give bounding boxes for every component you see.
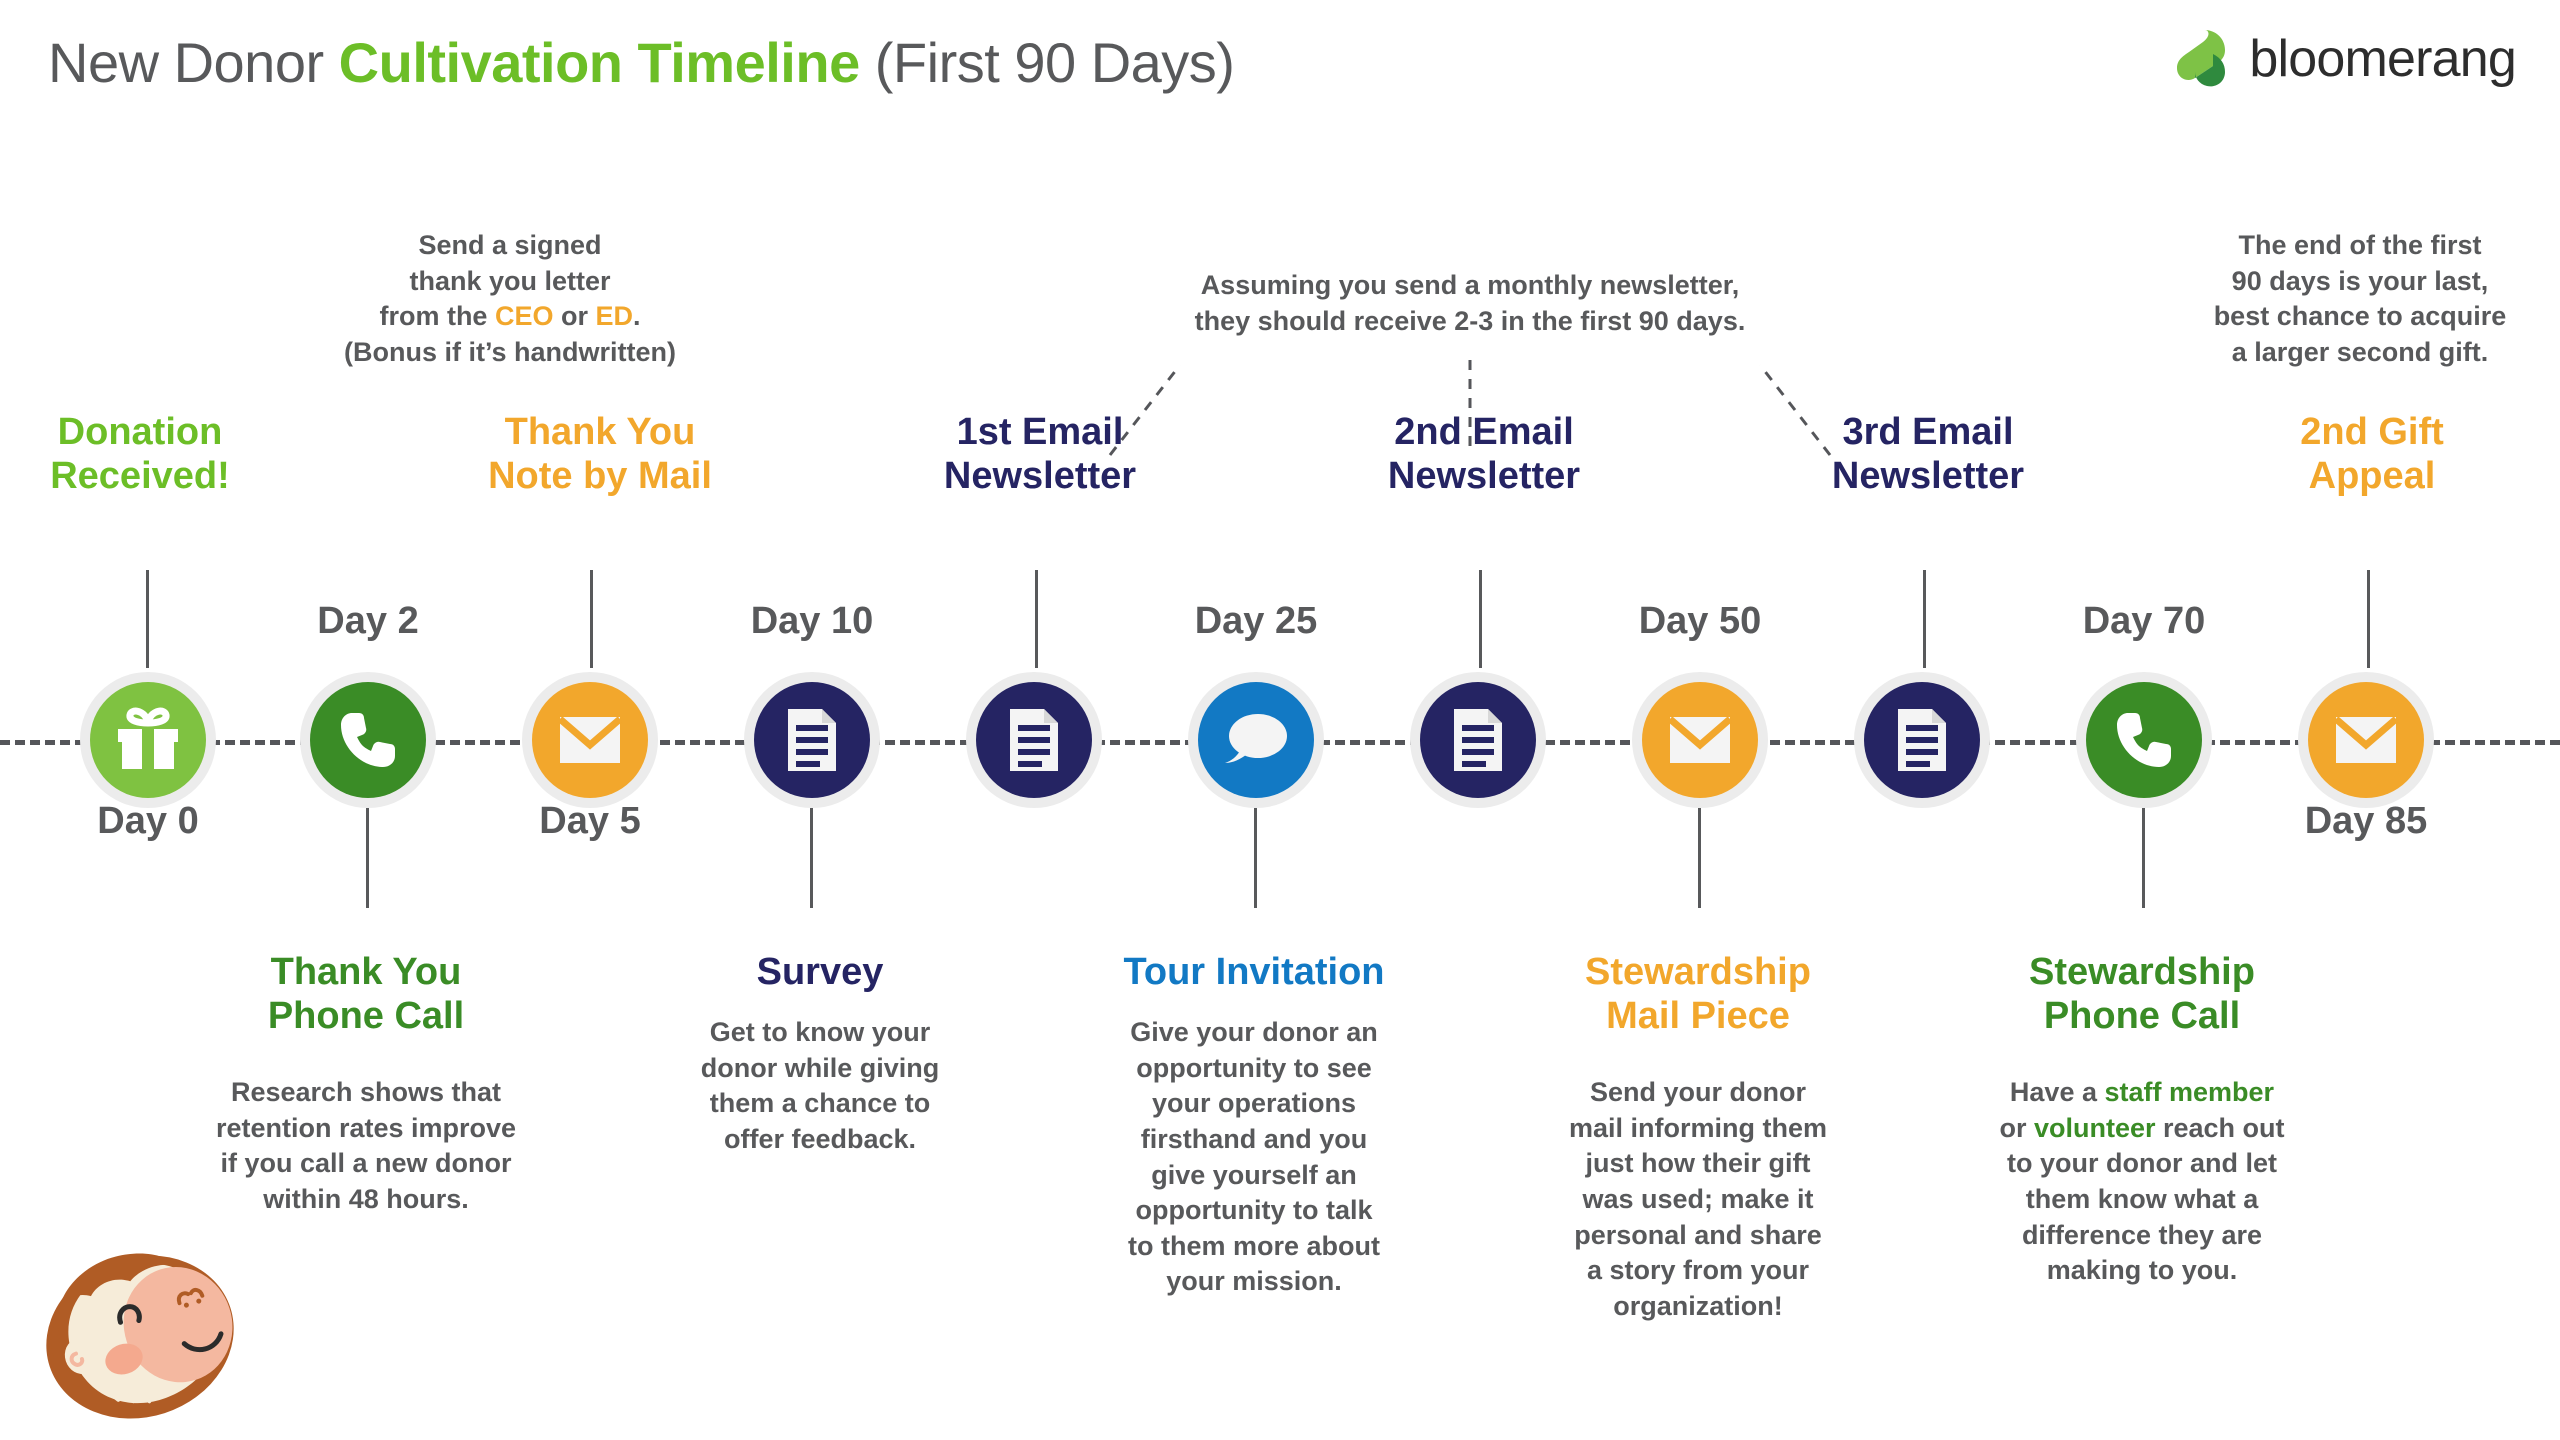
node-disc (2086, 682, 2202, 798)
heading-stewardship-phone-call: Stewardship Phone Call (1982, 950, 2302, 1038)
heading-donation-received: Donation Received! (0, 410, 300, 498)
node-thank-you-note-by-mail[interactable] (522, 672, 658, 808)
node-disc (2308, 682, 2424, 798)
stem-second-email-newsletter (1479, 570, 1482, 668)
bloomerang-logo-text: bloomerang (2249, 33, 2516, 85)
heading-thank-you-note-by-mail: Thank You Note by Mail (440, 410, 760, 498)
envelope-icon (1668, 715, 1732, 765)
annotation-line: thank you letter (300, 264, 720, 300)
document-icon (1896, 707, 1948, 773)
annotation-line: they should receive 2-3 in the first 90 … (1090, 304, 1850, 340)
node-disc (1198, 682, 1314, 798)
infographic-canvas: New Donor Cultivation Timeline (First 90… (0, 0, 2560, 1440)
node-second-gift-appeal[interactable] (2298, 672, 2434, 808)
day-label-survey: Day 10 (692, 600, 932, 643)
stem-third-email-newsletter (1923, 570, 1926, 668)
annotation-line: a larger second gift. (2180, 335, 2540, 371)
description-stewardship-mail-piece: Send your donor mail informing them just… (1528, 1075, 1868, 1324)
node-disc (310, 682, 426, 798)
chat-bubble-icon (1221, 709, 1291, 771)
annotation-text: from the (379, 301, 495, 331)
heading-thank-you-phone-call: Thank You Phone Call (206, 950, 526, 1038)
day-label-stewardship-mail-piece: Day 50 (1580, 600, 1820, 643)
bloomerang-logo: bloomerang (2175, 28, 2516, 90)
node-first-email-newsletter[interactable] (966, 672, 1102, 808)
stem-stewardship-phone-call (2142, 808, 2145, 908)
ed-highlight: ED (596, 301, 634, 331)
node-disc (1864, 682, 1980, 798)
title-suffix: (First 90 Days) (860, 31, 1235, 94)
stem-thank-you-phone-call (366, 808, 369, 908)
newsletter-connectors (1050, 355, 1890, 465)
heading-survey: Survey (660, 950, 980, 994)
annotation-line: best chance to acquire (2180, 299, 2540, 335)
title-strong: Cultivation Timeline (339, 31, 860, 94)
stem-donation-received (146, 570, 149, 668)
ceo-highlight: CEO (495, 301, 554, 331)
envelope-icon (2334, 715, 2398, 765)
description-stewardship-phone-call: Have a staff member or volunteer reach o… (1962, 1075, 2322, 1289)
node-disc (532, 682, 648, 798)
description-tour-invitation: Give your donor an opportunity to see yo… (1094, 1015, 1414, 1300)
document-icon (1008, 707, 1060, 773)
stem-first-email-newsletter (1035, 570, 1038, 668)
description-survey: Get to know your donor while giving them… (655, 1015, 985, 1158)
node-disc (1642, 682, 1758, 798)
heading-tour-invitation: Tour Invitation (1094, 950, 1414, 994)
annotation-line: Assuming you send a monthly newsletter, (1090, 268, 1850, 304)
page-title: New Donor Cultivation Timeline (First 90… (48, 30, 1234, 95)
stem-thank-you-note-by-mail (590, 570, 593, 668)
annotation-text: . (633, 301, 641, 331)
node-disc (1420, 682, 1536, 798)
node-stewardship-mail-piece[interactable] (1632, 672, 1768, 808)
node-disc (90, 682, 206, 798)
bloomerang-logo-icon (2175, 28, 2231, 90)
node-disc (976, 682, 1092, 798)
node-donation-received[interactable] (80, 672, 216, 808)
phone-icon (335, 707, 401, 773)
annotation-line: Send a signed (300, 228, 720, 264)
node-third-email-newsletter[interactable] (1854, 672, 1990, 808)
annotation-line: (Bonus if it’s handwritten) (300, 335, 720, 371)
newsletter-annotation: Assuming you send a monthly newsletter, … (1090, 268, 1850, 339)
node-stewardship-phone-call[interactable] (2076, 672, 2212, 808)
day-label-stewardship-phone-call: Day 70 (2024, 600, 2264, 643)
node-thank-you-phone-call[interactable] (300, 672, 436, 808)
thank-you-note-annotation: Send a signed thank you letter from the … (300, 228, 720, 371)
stem-tour-invitation (1254, 808, 1257, 908)
description-thank-you-phone-call: Research shows that retention rates impr… (176, 1075, 556, 1218)
gift-icon (113, 707, 183, 773)
node-survey[interactable] (744, 672, 880, 808)
document-icon (786, 707, 838, 773)
heading-stewardship-mail-piece: Stewardship Mail Piece (1538, 950, 1858, 1038)
donor-face-illustration (30, 1245, 250, 1430)
annotation-line: from the CEO or ED. (300, 299, 720, 335)
node-second-email-newsletter[interactable] (1410, 672, 1546, 808)
volunteer-highlight: volunteer (2034, 1113, 2156, 1143)
annotation-text: or (553, 301, 595, 331)
day-label-thank-you-phone-call: Day 2 (248, 600, 488, 643)
second-gift-annotation: The end of the first 90 days is your las… (2180, 228, 2540, 371)
annotation-line: 90 days is your last, (2180, 264, 2540, 300)
description-text: or (1999, 1113, 2034, 1143)
stem-second-gift-appeal (2367, 570, 2370, 668)
heading-second-gift-appeal: 2nd Gift Appeal (2212, 410, 2532, 498)
title-prefix: New Donor (48, 31, 339, 94)
stem-stewardship-mail-piece (1698, 808, 1701, 908)
annotation-line: The end of the first (2180, 228, 2540, 264)
day-label-tour-invitation: Day 25 (1136, 600, 1376, 643)
staff-member-highlight: staff member (2105, 1077, 2275, 1107)
phone-icon (2111, 707, 2177, 773)
description-text: Have a (2010, 1077, 2105, 1107)
envelope-icon (558, 715, 622, 765)
node-tour-invitation[interactable] (1188, 672, 1324, 808)
stem-survey (810, 808, 813, 908)
node-disc (754, 682, 870, 798)
document-icon (1452, 707, 1504, 773)
